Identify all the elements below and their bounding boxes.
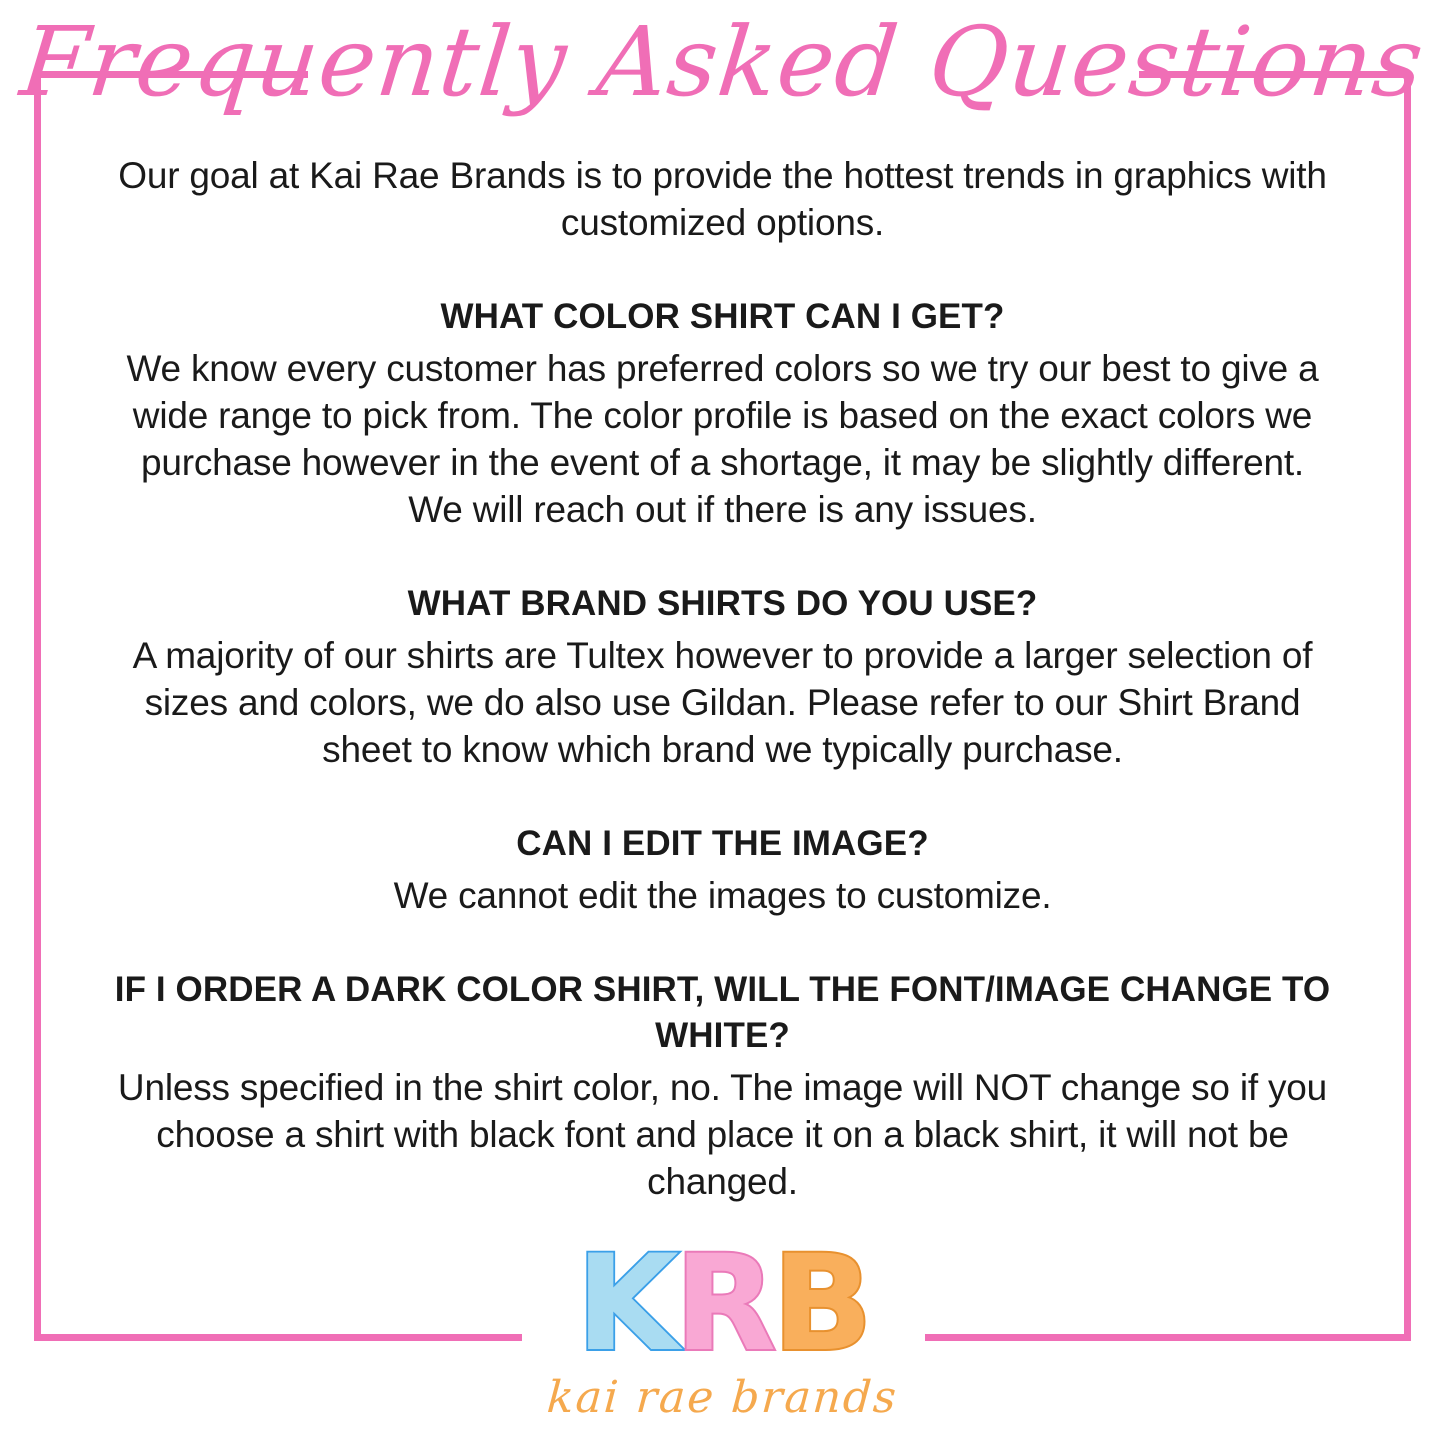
page-title: Frequently Asked Questions — [0, 6, 1445, 119]
faq-item: WHAT BRAND SHIRTS DO YOU USE? A majority… — [103, 581, 1342, 773]
faq-question: CAN I EDIT THE IMAGE? — [103, 821, 1342, 867]
intro-paragraph: Our goal at Kai Rae Brands is to provide… — [103, 152, 1342, 246]
logo-letter-b: B — [772, 1238, 869, 1370]
faq-answer: A majority of our shirts are Tultex howe… — [103, 632, 1342, 773]
logo-letter-k: K — [576, 1238, 674, 1370]
faq-question: IF I ORDER A DARK COLOR SHIRT, WILL THE … — [103, 967, 1342, 1059]
faq-answer: We know every customer has preferred col… — [103, 345, 1342, 533]
logo-tagline: kai rae brands — [0, 1372, 1445, 1424]
frame-right-segment — [1404, 71, 1411, 1341]
brand-logo: KRB kai rae brands — [0, 1238, 1445, 1424]
faq-answer: We cannot edit the images to customize. — [103, 872, 1342, 919]
logo-letters: KRB — [576, 1238, 869, 1370]
faq-item: WHAT COLOR SHIRT CAN I GET? We know ever… — [103, 294, 1342, 533]
frame-left-segment — [34, 71, 41, 1341]
faq-question: WHAT COLOR SHIRT CAN I GET? — [103, 294, 1342, 340]
faq-question: WHAT BRAND SHIRTS DO YOU USE? — [103, 581, 1342, 627]
faq-answer: Unless specified in the shirt color, no.… — [103, 1064, 1342, 1205]
faq-content: Our goal at Kai Rae Brands is to provide… — [103, 152, 1342, 1205]
faq-item: IF I ORDER A DARK COLOR SHIRT, WILL THE … — [103, 967, 1342, 1205]
logo-letter-r: R — [675, 1238, 773, 1370]
faq-page: Frequently Asked Questions Our goal at K… — [0, 0, 1445, 1445]
faq-item: CAN I EDIT THE IMAGE? We cannot edit the… — [103, 821, 1342, 919]
